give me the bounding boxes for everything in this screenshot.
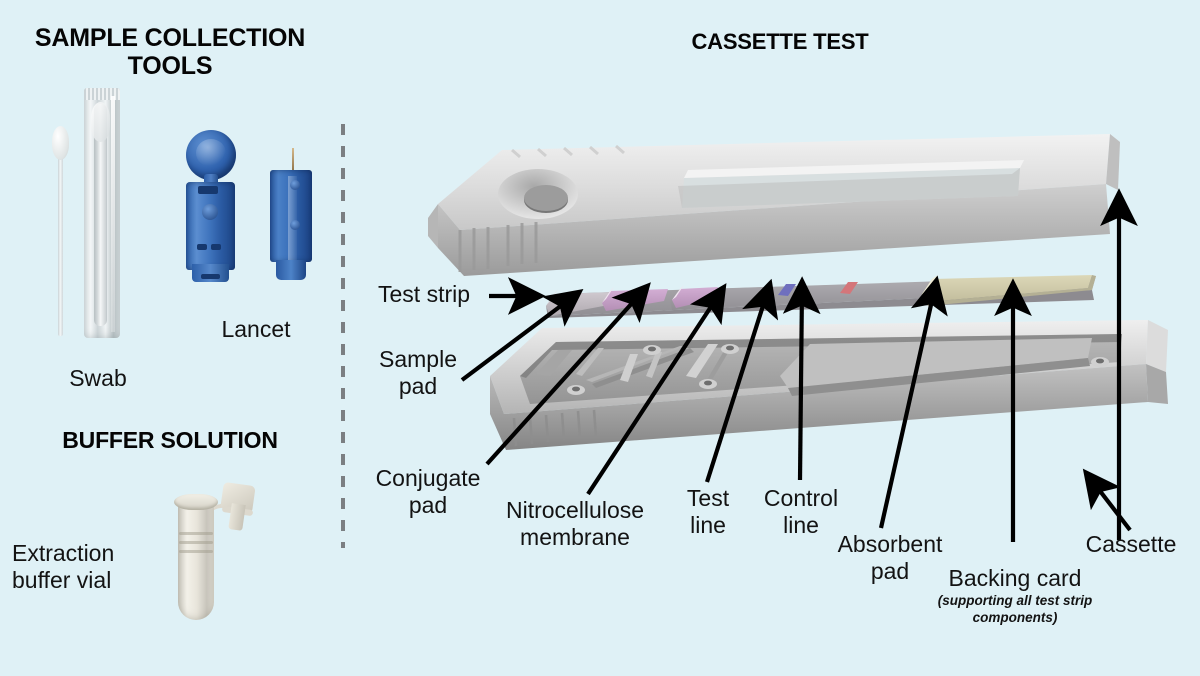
callout-label-nitrocellulose-membrane: Nitrocellulose membrane: [487, 497, 663, 551]
callout-label-conjugate-pad: Conjugate pad: [368, 465, 488, 519]
diagram-canvas: SAMPLE COLLECTION TOOLS BUFFER SOLUTION …: [0, 0, 1200, 676]
callout-label-sample-pad: Sample pad: [370, 346, 466, 400]
arrow-control-line: [800, 288, 802, 480]
arrow-sample-pad: [462, 296, 574, 380]
callout-label-test-line: Test line: [672, 485, 744, 539]
arrow-absorbent-pad: [881, 287, 935, 528]
callout-sublabel-backing-card: (supporting all test strip components): [925, 593, 1105, 627]
callout-label-test-strip: Test strip: [378, 281, 490, 308]
arrow-test-line: [707, 290, 768, 482]
arrow-conjugate-pad: [487, 291, 643, 464]
arrow-cassette-bottom: [1090, 478, 1130, 530]
arrow-nitrocellulose-membrane: [588, 293, 720, 494]
callout-label-cassette: Cassette: [1068, 531, 1194, 558]
callout-label-backing-card: Backing card: [937, 565, 1093, 592]
